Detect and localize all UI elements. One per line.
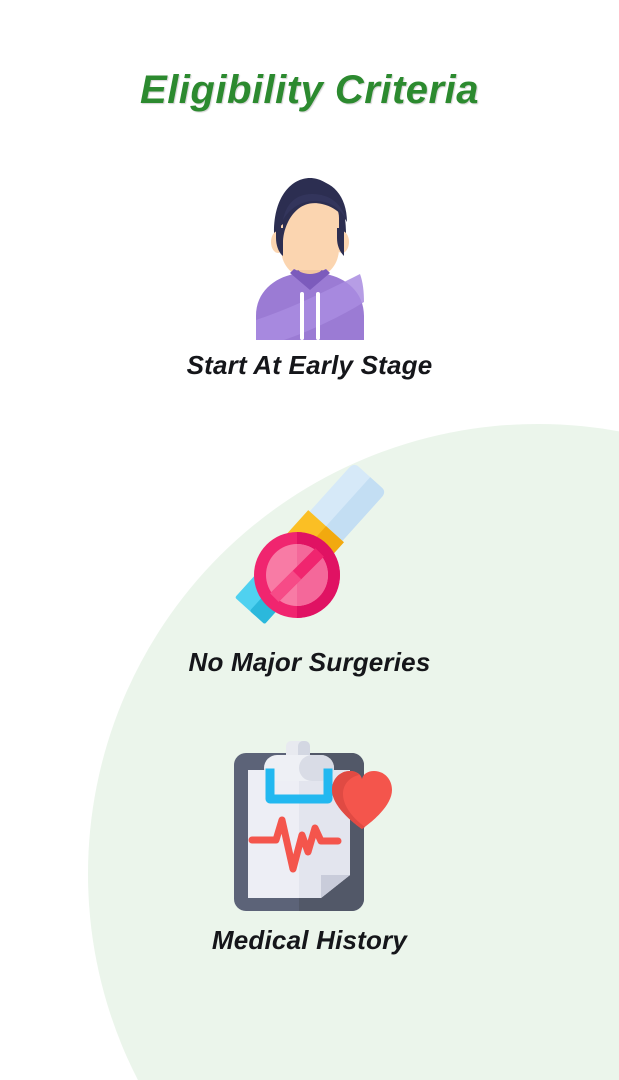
criteria-item-medical-history: Medical History [0, 735, 619, 956]
criteria-label-start-at-early-stage: Start At Early Stage [0, 350, 619, 381]
criteria-label-medical-history: Medical History [0, 925, 619, 956]
criteria-item-no-major-surgeries: No Major Surgeries [0, 452, 619, 678]
criteria-item-start-at-early-stage: Start At Early Stage [0, 170, 619, 381]
person-avatar-icon [0, 170, 619, 340]
page-title: Eligibility Criteria [0, 68, 619, 113]
criteria-label-no-major-surgeries: No Major Surgeries [0, 647, 619, 678]
medical-clipboard-heart-icon [0, 735, 619, 915]
eligibility-criteria-page: Eligibility Criteria [0, 0, 619, 1080]
no-surgery-scalpel-icon [0, 452, 619, 637]
